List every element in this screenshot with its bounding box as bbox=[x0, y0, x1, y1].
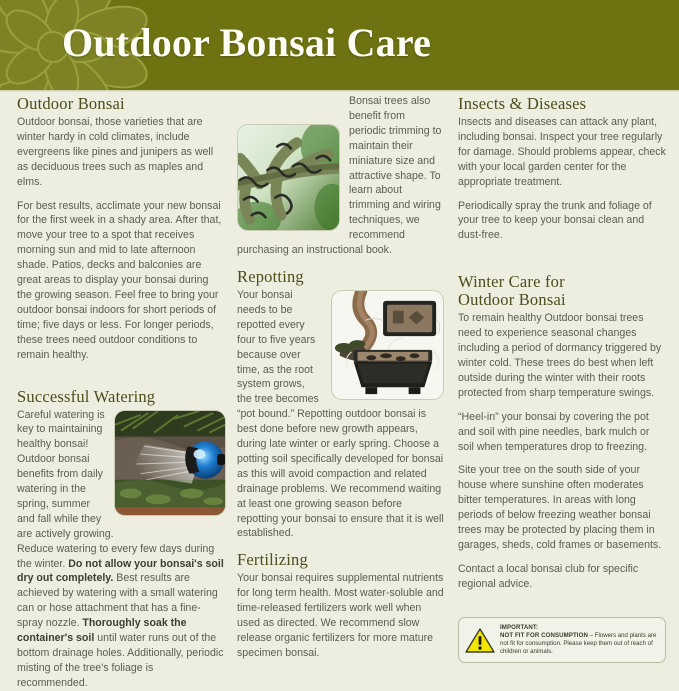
header-divider bbox=[0, 90, 679, 92]
winter-care-paragraph-2: “Heel-in” your bonsai by covering the po… bbox=[458, 410, 666, 455]
outdoor-bonsai-paragraph-2: For best results, acclimate your new bon… bbox=[17, 199, 226, 363]
winter-care-paragraph-1: To remain healthy Outdoor bonsai trees n… bbox=[458, 311, 666, 400]
warning-triangle-icon bbox=[465, 627, 495, 654]
watering-paragraph-2: Reduce watering to every few days during… bbox=[17, 542, 226, 691]
heading-outdoor-bonsai: Outdoor Bonsai bbox=[17, 94, 226, 113]
trimming-photo bbox=[237, 124, 340, 231]
heading-successful-watering: Successful Watering bbox=[17, 387, 226, 406]
warning-line-2-bold: NOT FIT FOR CONSUMPTION bbox=[500, 632, 588, 639]
section-spacer bbox=[237, 258, 444, 267]
heading-insects-diseases: Insects & Diseases bbox=[458, 94, 666, 113]
repotting-block: Your bonsai needs to be repotted every f… bbox=[237, 288, 444, 541]
content-columns: Outdoor Bonsai Outdoor bonsai, those var… bbox=[0, 94, 679, 679]
column-right: Insects & Diseases Insects and diseases … bbox=[458, 94, 666, 592]
section-spacer bbox=[237, 541, 444, 550]
page-title: Outdoor Bonsai Care bbox=[62, 19, 431, 66]
watering-photo bbox=[114, 410, 226, 516]
heading-fertilizing: Fertilizing bbox=[237, 550, 444, 569]
fertilizing-paragraph: Your bonsai requires supplemental nutrie… bbox=[237, 571, 444, 660]
column-left: Outdoor Bonsai Outdoor bonsai, those var… bbox=[17, 94, 226, 691]
column-middle: Bonsai trees also benefit from periodic … bbox=[237, 94, 444, 661]
important-warning-box: IMPORTANT: NOT FIT FOR CONSUMPTION – Flo… bbox=[458, 617, 666, 663]
winter-care-paragraph-4: Contact a local bonsai club for specific… bbox=[458, 562, 666, 592]
outdoor-bonsai-paragraph-1: Outdoor bonsai, those varieties that are… bbox=[17, 115, 226, 190]
winter-care-paragraph-3: Site your tree on the south side of your… bbox=[458, 463, 666, 552]
repotting-photo bbox=[331, 290, 444, 400]
heading-winter-care: Winter Care forOutdoor Bonsai bbox=[458, 273, 666, 309]
section-spacer bbox=[17, 372, 226, 387]
warning-text: IMPORTANT: NOT FIT FOR CONSUMPTION – Flo… bbox=[500, 624, 659, 656]
winter-care-heading-line2: Outdoor Bonsai bbox=[458, 290, 566, 309]
trimming-block: Bonsai trees also benefit from periodic … bbox=[237, 94, 444, 258]
insects-paragraph-2: Periodically spray the trunk and foliage… bbox=[458, 199, 666, 244]
section-spacer bbox=[458, 252, 666, 273]
page-root: Outdoor Bonsai Care Outdoor Bonsai Outdo… bbox=[0, 0, 679, 679]
watering-text-wrap: Careful watering is key to maintaining h… bbox=[17, 408, 226, 542]
page-header: Outdoor Bonsai Care bbox=[0, 0, 679, 90]
insects-paragraph-1: Insects and diseases can attack any plan… bbox=[458, 115, 666, 190]
winter-care-heading-line1: Winter Care for bbox=[458, 272, 565, 291]
heading-repotting: Repotting bbox=[237, 267, 444, 286]
warning-line-1: IMPORTANT: bbox=[500, 624, 659, 632]
